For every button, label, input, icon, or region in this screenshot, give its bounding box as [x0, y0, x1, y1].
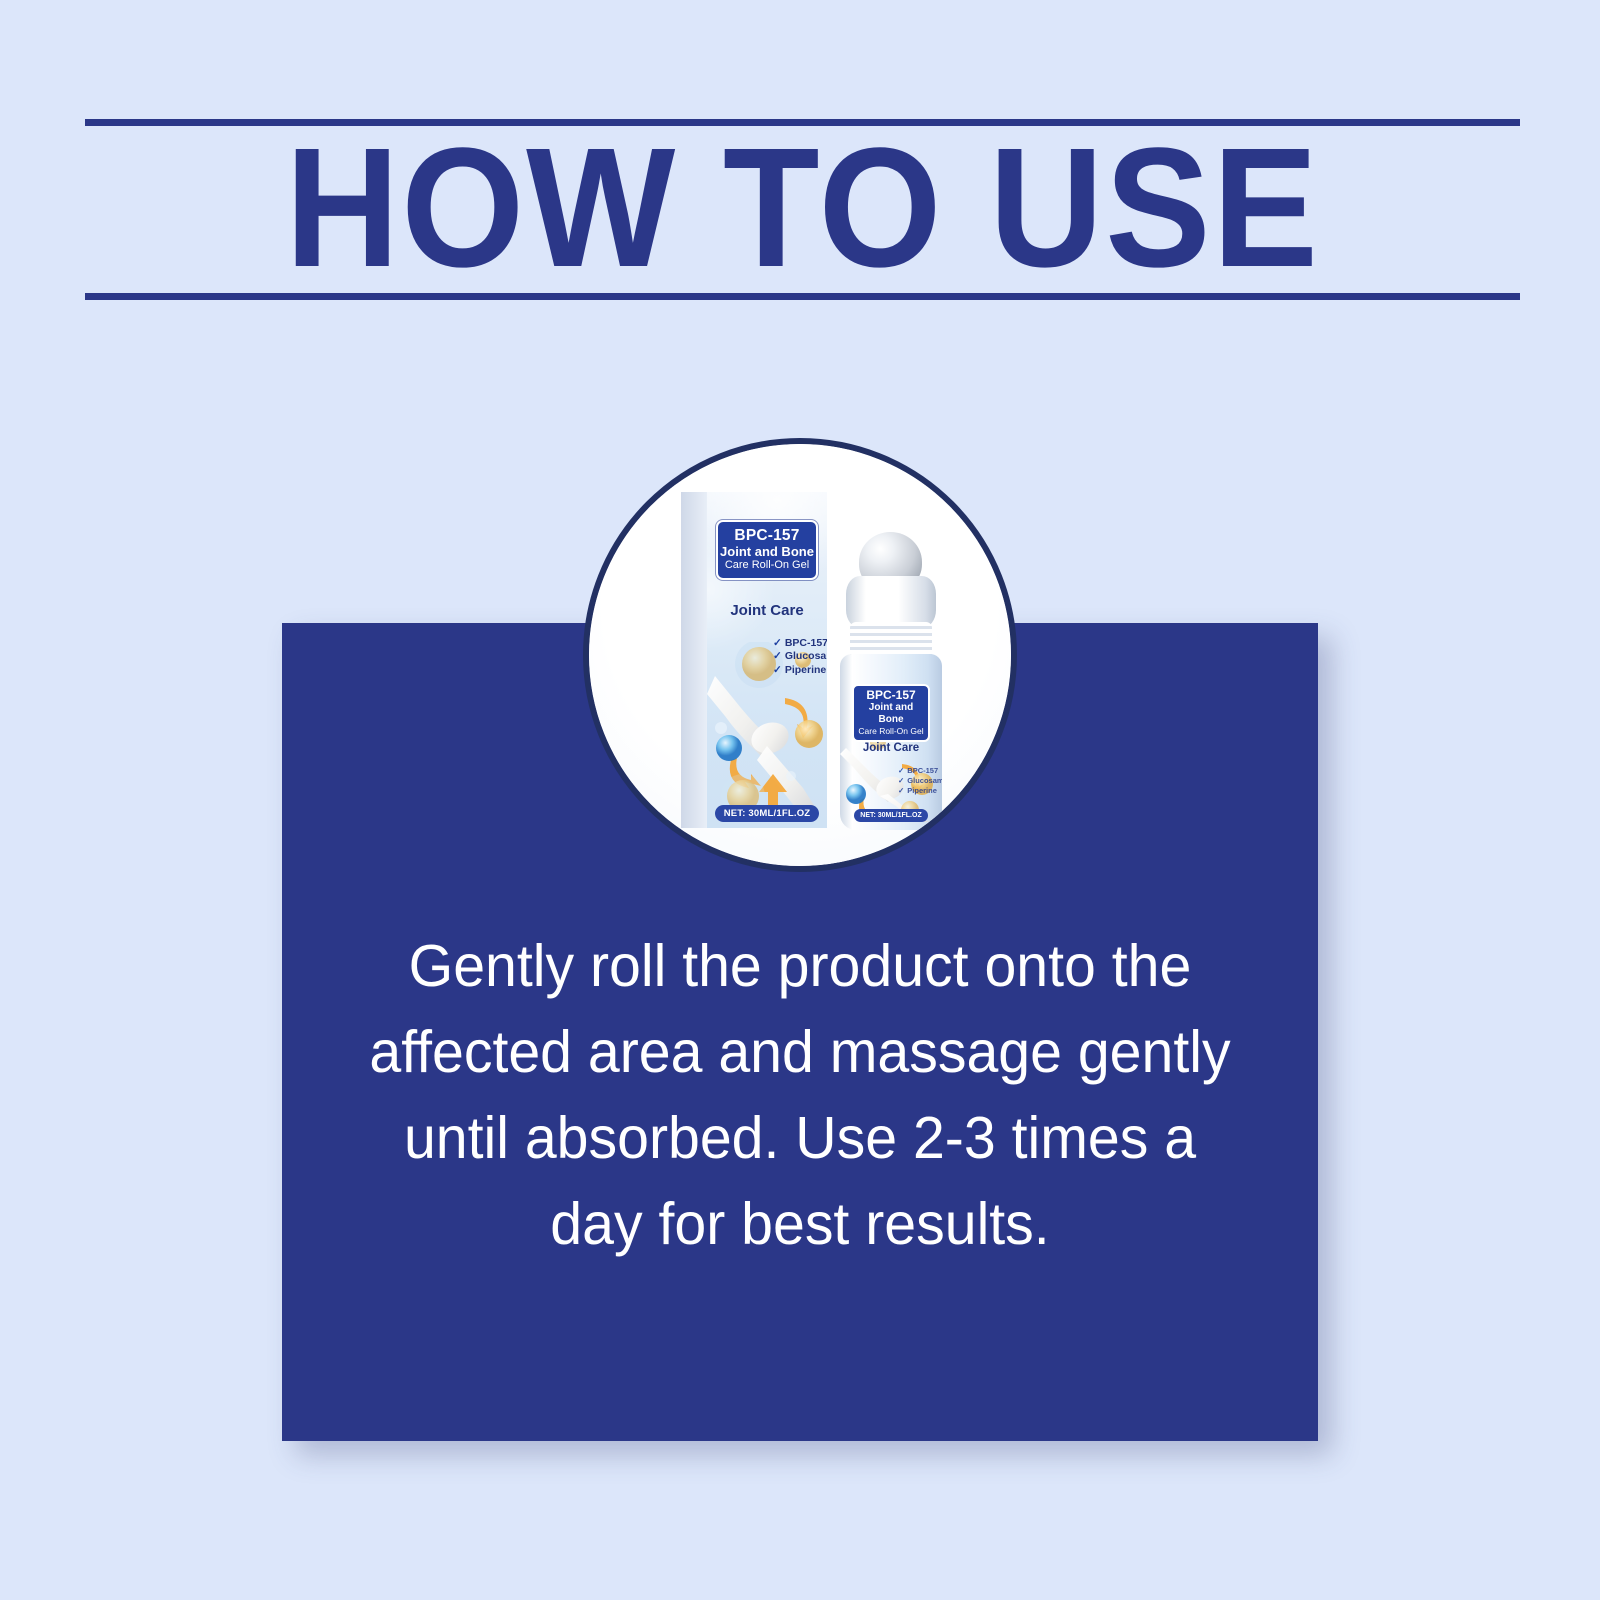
- carton-ingredient-item: ✓Piperine: [773, 664, 827, 678]
- carton-side-panel: [681, 492, 707, 828]
- product-carton: BPC-157 Joint and Bone Care Roll-On Gel …: [681, 492, 827, 828]
- carton-label-line1: BPC-157: [720, 527, 814, 544]
- bottle-body: BPC-157 Joint and Bone Care Roll-On Gel …: [840, 654, 942, 830]
- product-photo: BPC-157 Joint and Bone Care Roll-On Gel …: [589, 444, 1011, 866]
- page-title: HOW TO USE: [135, 128, 1470, 288]
- check-icon: ✓: [898, 776, 904, 785]
- bottle-label-line2: Joint and Bone: [855, 702, 927, 726]
- carton-ingredient-label: Glucosamine: [785, 650, 827, 662]
- bottle-ingredient-item: ✓Piperine: [898, 786, 942, 796]
- carton-front-panel: BPC-157 Joint and Bone Care Roll-On Gel …: [707, 492, 827, 828]
- bottle-collar: [846, 576, 936, 628]
- check-icon: ✓: [773, 664, 782, 676]
- bottle-ingredient-label: Glucosamine: [907, 776, 942, 785]
- carton-label-line2: Joint and Bone: [720, 544, 814, 559]
- bottle-label-badge: BPC-157 Joint and Bone Care Roll-On Gel: [852, 684, 930, 742]
- bottle-ingredient-label: BPC-157: [907, 766, 938, 775]
- bottle-label-line1: BPC-157: [855, 689, 927, 702]
- carton-label-line3: Care Roll-On Gel: [720, 559, 814, 572]
- carton-label-badge: BPC-157 Joint and Bone Care Roll-On Gel: [716, 520, 818, 580]
- header-rule-bottom: [85, 293, 1520, 300]
- carton-ingredient-list: ✓BPC-157 ✓Glucosamine ✓Piperine: [733, 637, 827, 678]
- carton-ingredient-label: BPC-157: [785, 637, 827, 649]
- bottle-section-heading: Joint Care: [840, 742, 942, 754]
- bottle-ingredient-item: ✓BPC-157: [898, 766, 942, 776]
- check-icon: ✓: [898, 786, 904, 795]
- product-bottle: BPC-157 Joint and Bone Care Roll-On Gel …: [832, 532, 950, 830]
- carton-ingredient-item: ✓BPC-157: [773, 637, 827, 651]
- check-icon: ✓: [773, 637, 782, 649]
- bottle-label-line3: Care Roll-On Gel: [855, 726, 927, 736]
- poster-canvas: HOW TO USE Gently roll the product onto …: [0, 0, 1600, 1600]
- bottle-ingredient-list: ✓BPC-157 ✓Glucosamine ✓Piperine: [858, 766, 942, 796]
- bottle-ingredient-item: ✓Glucosamine: [898, 776, 942, 786]
- check-icon: ✓: [773, 650, 782, 662]
- carton-section-heading: Joint Care: [707, 602, 827, 619]
- product-image-circle: BPC-157 Joint and Bone Care Roll-On Gel …: [583, 438, 1017, 872]
- carton-ingredient-label: Piperine: [785, 664, 826, 676]
- carton-ingredient-item: ✓Glucosamine: [773, 650, 827, 664]
- carton-net-contents: NET: 30ML/1FL.OZ: [715, 805, 819, 822]
- instruction-text: Gently roll the product onto the affecte…: [356, 923, 1245, 1267]
- check-icon: ✓: [898, 766, 904, 775]
- bottle-ingredient-label: Piperine: [907, 786, 937, 795]
- bottle-net-contents: NET: 30ML/1FL.OZ: [854, 809, 928, 822]
